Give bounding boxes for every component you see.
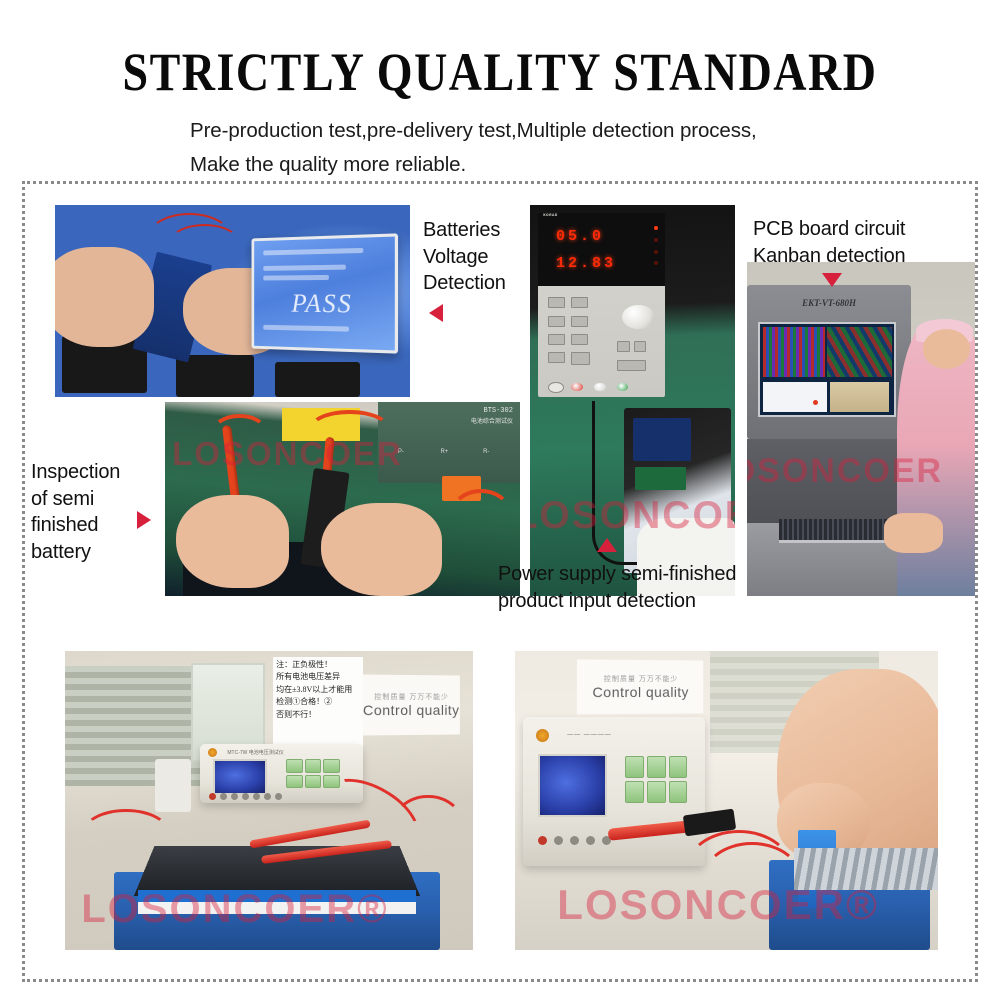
tester-lcd <box>538 754 607 817</box>
photo-power-supply-input-detection: KORAD 05.0 12.83 <box>530 205 735 596</box>
caption-pcb-kanban: PCB board circuit Kanban detection <box>753 216 905 269</box>
tester-lcd-screen: PASS <box>251 233 398 354</box>
photo-pcb-kanban-detection: EKT-VT-680H LOSONCOER <box>747 262 975 596</box>
operator-hand <box>884 513 943 553</box>
page-subtitle: Pre-production test,pre-delivery test,Mu… <box>0 114 1000 180</box>
key-up[interactable] <box>647 756 666 778</box>
triangle-down-icon <box>822 273 842 287</box>
psu-adjust-knob[interactable] <box>622 305 655 329</box>
terminal-positive[interactable] <box>617 383 628 391</box>
key-left[interactable] <box>286 775 303 788</box>
photo-semi-finished-inspection: BTS-302 电池综合测试仪 P- R+ R- LOSONCOER <box>165 402 520 596</box>
caption-batteries-voltage: Batteries Voltage Detection <box>423 217 506 297</box>
gallery-dashed-frame: PASS Batteries Voltage Detection KORAD 0… <box>22 181 978 982</box>
page-header: STRICTLY QUALITY STANDARD Pre-production… <box>0 0 1000 181</box>
caption-line: Detection <box>423 270 506 297</box>
key-enter[interactable] <box>669 756 688 778</box>
caption-line: Inspection <box>31 459 159 486</box>
caption-line: Batteries <box>423 217 506 244</box>
caption-line: PCB board circuit <box>753 216 905 243</box>
sign-text-en: Control quality <box>593 684 689 700</box>
tester-model-label: MTC-7W 电池电压测试仪 <box>227 749 283 756</box>
tester-brand-logo <box>536 729 549 742</box>
caption-line: battery <box>31 539 159 566</box>
page-title: STRICTLY QUALITY STANDARD <box>0 44 1000 101</box>
terminal-ground[interactable] <box>594 383 605 391</box>
bts-302-instrument: BTS-302 电池综合测试仪 P- R+ R- <box>378 402 520 483</box>
key-left[interactable] <box>625 781 644 803</box>
machine-model-label: EKT-VT-680H <box>747 298 911 308</box>
terminal-negative[interactable] <box>571 383 582 391</box>
caption-line: product input detection <box>498 588 736 615</box>
sign-text-cn: 控制质量 万万不能少 <box>374 692 449 702</box>
key-enter[interactable] <box>323 759 340 772</box>
aoi-view-right <box>827 327 891 377</box>
key-up[interactable] <box>305 759 322 772</box>
top-collage: PASS Batteries Voltage Detection KORAD 0… <box>25 184 975 618</box>
photo-batteries-voltage-detection: PASS <box>55 205 410 397</box>
sign-text-en: Control quality <box>363 702 459 718</box>
key-esc[interactable] <box>625 756 644 778</box>
key-esc[interactable] <box>286 759 303 772</box>
triangle-left-icon <box>429 304 443 322</box>
caption-line: Kanban detection <box>753 243 905 270</box>
photo-control-quality-station: 注：正负极性！ 所有电池电压差异 均在±3.8V以上才能用 检测①合格！② 否则… <box>65 651 473 950</box>
current-readout: 12.83 <box>556 255 616 272</box>
key-down[interactable] <box>647 781 666 803</box>
photo-probe-measurement-closeup: 控制质量 万万不能少 Control quality —— ———— <box>515 651 938 950</box>
subtitle-line-2: Make the quality more reliable. <box>190 148 1000 181</box>
aoi-panel-report <box>763 382 827 412</box>
tester-brand-logo <box>208 748 217 757</box>
caption-power-supply: Power supply semi-finished product input… <box>498 561 736 614</box>
tester-port-row[interactable] <box>209 793 282 800</box>
tester-keypad[interactable] <box>625 756 687 804</box>
tester-port-row[interactable] <box>538 836 611 845</box>
control-quality-sign: 控制质量 万万不能少 Control quality <box>362 674 459 735</box>
triangle-up-icon <box>597 538 617 552</box>
key-down[interactable] <box>305 775 322 788</box>
caption-line: of semi <box>31 486 159 513</box>
caption-line: Voltage <box>423 244 506 271</box>
instrument-model-label: BTS-302 电池综合测试仪 <box>471 406 513 427</box>
aoi-panel-board <box>830 382 889 412</box>
pass-status-text: PASS <box>254 289 395 320</box>
caption-line: Power supply semi-finished <box>498 561 736 588</box>
key-right[interactable] <box>669 781 688 803</box>
voltage-readout: 05.0 <box>556 228 604 245</box>
sign-text-cn: 控制质量 万万不能少 <box>604 674 679 684</box>
operator-head <box>923 329 971 369</box>
control-quality-sign: 控制质量 万万不能少 Control quality <box>577 659 703 714</box>
aoi-monitor-screen <box>758 322 896 417</box>
subtitle-line-1: Pre-production test,pre-delivery test,Mu… <box>190 114 1000 147</box>
triangle-right-icon <box>137 511 151 529</box>
led-display-panel: KORAD 05.0 12.83 <box>538 213 665 287</box>
psu-brand-label: KORAD <box>543 214 558 218</box>
battery-voltage-tester: —— ———— <box>523 717 705 867</box>
dc-power-supply-unit: KORAD 05.0 12.83 <box>538 213 665 397</box>
aoi-machine-head: EKT-VT-680H <box>747 285 911 439</box>
aoi-view-left <box>763 327 825 377</box>
tester-lcd <box>213 759 267 795</box>
